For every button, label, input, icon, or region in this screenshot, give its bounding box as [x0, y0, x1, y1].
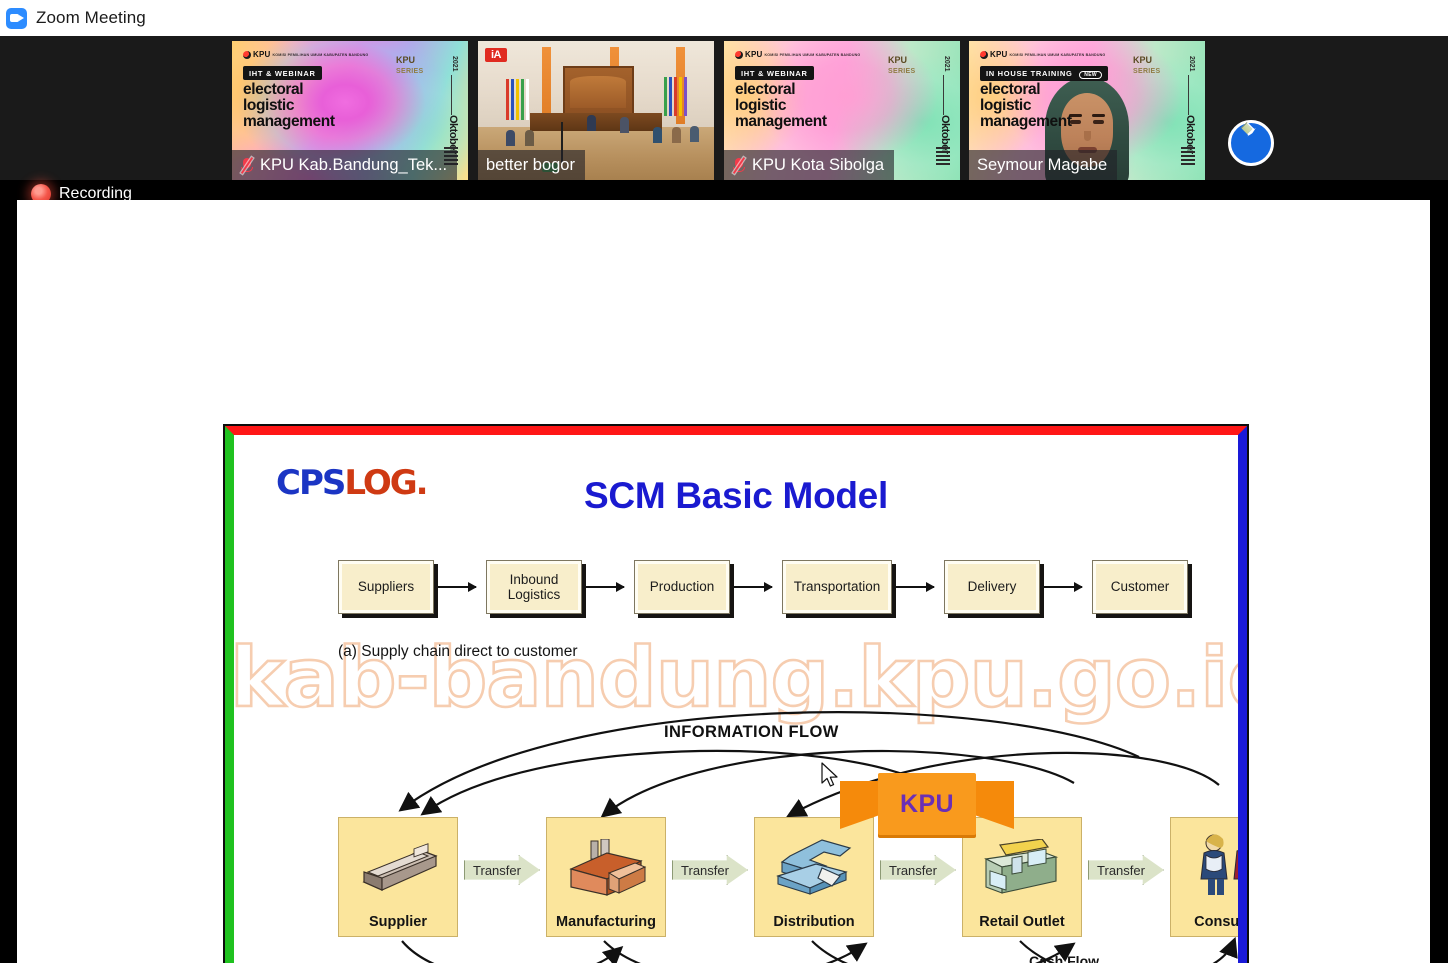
diagram-a-caption: (a) Supply chain direct to customer	[338, 643, 578, 661]
poster-badge: IN HOUSE TRAINING NEW	[980, 66, 1108, 81]
node-manufacturing: Manufacturing	[546, 817, 666, 937]
diagram-a-box-customer: Customer	[1092, 560, 1188, 614]
diagram-b-nodes: Supplier Transfer	[234, 817, 1238, 947]
mouse-cursor	[820, 762, 840, 788]
diagram-a-box-transportation: Transportation	[782, 560, 892, 614]
kpu-overlay-banner: KPU	[840, 773, 1014, 839]
presentation-slide: kab-bandung.kpu.go.id CPSLOG. SCM Basic …	[225, 426, 1247, 963]
window-titlebar: Zoom Meeting	[0, 0, 1448, 36]
diagram-a-box-delivery: Delivery	[944, 560, 1040, 614]
participant-name-label-4: Seymour Magabe	[969, 150, 1117, 180]
warehouse-icon	[356, 842, 440, 894]
meeting-content-area: Recording kab-bandung.kpu.go.id CPSLOG. …	[0, 180, 1448, 963]
poster-title: electoral logistic management	[243, 82, 335, 129]
participant-name-label-3: KPU Kota Sibolga	[724, 150, 894, 180]
diagram-a-arrow-3	[734, 586, 772, 588]
poster-title: electoral logistic management	[735, 82, 827, 129]
participant-thumbnail-4[interactable]: KPU KOMISI PEMILIHAN UMUM KABUPATEN BAND…	[969, 41, 1205, 180]
diagram-a-arrow-1	[438, 586, 476, 588]
transfer-arrow-4: Transfer	[1088, 855, 1164, 885]
zoom-camera-icon	[6, 8, 27, 29]
diagram-a-box-suppliers: Suppliers	[338, 560, 434, 614]
distribution-center-icon	[770, 838, 858, 898]
poster-badge: IHT & WEBINAR	[243, 66, 322, 80]
participant-thumbnail-1[interactable]: KPU KOMISI PEMILIHAN UMUM KABUPATEN BAND…	[232, 41, 468, 180]
channel-watermark-badge: iA	[485, 48, 507, 62]
node-supplier: Supplier	[338, 817, 458, 937]
slide-title: SCM Basic Model	[234, 475, 1238, 517]
mic-muted-icon	[732, 157, 746, 174]
node-consumer: Consumer	[1170, 817, 1238, 937]
window-title: Zoom Meeting	[36, 8, 146, 28]
participant-thumbnail-2[interactable]: iA better bogor	[478, 41, 714, 180]
participant-name-label-2: better bogor	[478, 150, 585, 180]
kpu-logo-icon: KPU KOMISI PEMILIHAN UMUM KABUPATEN BAND…	[980, 50, 1105, 60]
poster-title: electoral logistic management	[980, 82, 1072, 129]
transfer-arrow-3: Transfer	[880, 855, 956, 885]
factory-icon	[563, 839, 649, 897]
mic-muted-icon	[240, 157, 254, 174]
diagram-a-arrow-2	[586, 586, 624, 588]
diagram-a-box-inbound-logistics: Inbound Logistics	[486, 560, 582, 614]
participant-filmstrip: KPU KOMISI PEMILIHAN UMUM KABUPATEN BAND…	[0, 36, 1448, 180]
cash-flow-label: Cash Flow	[1029, 953, 1099, 963]
poster-sidebar: KPU SERIES 2021 Oktober	[1133, 53, 1197, 173]
screen-share-canvas: kab-bandung.kpu.go.id CPSLOG. SCM Basic …	[17, 200, 1430, 963]
transfer-arrow-2: Transfer	[672, 855, 748, 885]
diagram-a: Suppliers Inbound Logistics Production T…	[234, 560, 1238, 635]
diagram-a-arrow-4	[896, 586, 934, 588]
storefront-icon	[978, 839, 1066, 897]
zoom-meeting-window: Zoom Meeting KPU KOMISI PEMILIHAN UMUM K…	[0, 0, 1448, 963]
chevron-right-icon[interactable]	[1228, 120, 1274, 166]
poster-badge: IHT & WEBINAR	[735, 66, 814, 80]
participant-name-label-1: KPU Kab.Bandung_Tek...	[232, 150, 457, 180]
diagram-a-arrow-5	[1044, 586, 1082, 588]
kpu-logo-icon: KPU KOMISI PEMILIHAN UMUM KABUPATEN BAND…	[243, 50, 368, 60]
poster-sidebar: KPU SERIES 2021 Oktober	[888, 53, 952, 173]
kpu-logo-icon: KPU KOMISI PEMILIHAN UMUM KABUPATEN BAND…	[735, 50, 860, 60]
information-flow-label: INFORMATION FLOW	[664, 723, 839, 742]
diagram-a-box-production: Production	[634, 560, 730, 614]
transfer-arrow-1: Transfer	[464, 855, 540, 885]
people-icon	[1192, 831, 1238, 905]
participant-thumbnail-3[interactable]: KPU KOMISI PEMILIHAN UMUM KABUPATEN BAND…	[724, 41, 960, 180]
